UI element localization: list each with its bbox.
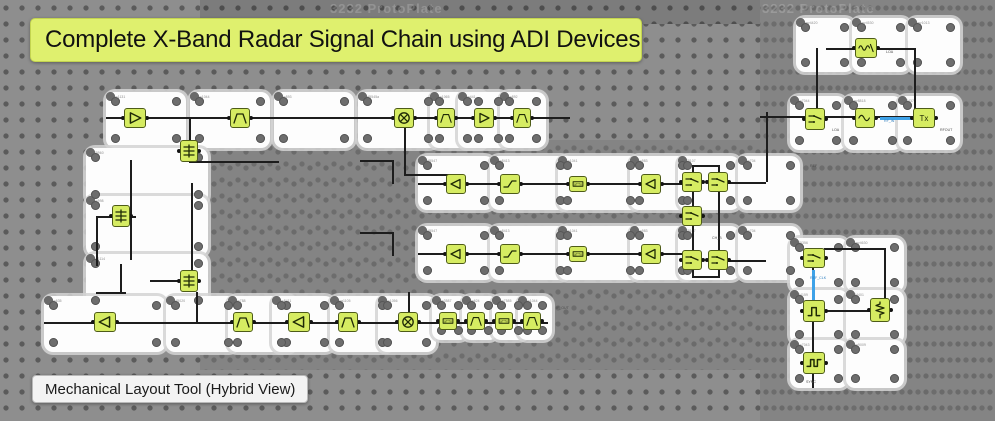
mounting-screw-icon [505,97,514,106]
watermark-top-left: 3232 ProtoPlate [330,1,443,16]
net-label: RFOUT [940,128,952,132]
switch-icon [711,253,725,267]
net-label: IF_OUT [556,306,569,310]
mounting-screw-icon [495,161,504,170]
mounting-screw-icon [635,196,644,205]
signal-trace [914,48,916,110]
mounting-screw-icon [834,345,843,354]
signal-trace [728,260,766,262]
signal-trace [766,112,768,182]
mounting-screw-icon [224,338,233,347]
signal-trace [196,292,198,324]
mounting-screw-icon [851,345,860,354]
clock-gen-icon [806,355,822,371]
net-label: RF_IN [884,119,894,123]
mounting-screw-icon [834,278,843,287]
mounting-screw-icon [626,231,635,240]
mounting-screw-icon [463,97,472,106]
mounting-screw-icon [840,58,849,67]
bp-filter-component[interactable] [233,312,253,332]
mounting-screw-icon [279,134,288,143]
amplifier-component[interactable] [288,312,310,332]
mounting-screw-icon [563,266,572,275]
mounting-screw-icon [683,196,692,205]
mounting-screw-icon [480,196,489,205]
mounting-screw-icon [890,345,899,354]
switch-component[interactable] [682,250,702,270]
mounting-screw-icon [435,134,444,143]
mounting-screw-icon [480,231,489,240]
amp-right-icon [477,111,491,125]
mounting-screw-icon [888,136,897,145]
atten-icon: aTTn [498,315,510,327]
mounting-screw-icon [890,330,899,339]
mounting-screw-icon [801,58,810,67]
svg-text:aTTn: aTTn [574,183,582,187]
signal-trace [116,322,236,324]
mounting-screw-icon [532,134,541,143]
mounting-screw-icon [195,97,204,106]
mounting-screw-icon [834,330,843,339]
mounting-screw-icon [494,97,503,106]
switch-component[interactable] [682,172,702,192]
phase-shift-component[interactable] [500,174,520,194]
mounting-screw-icon [786,161,795,170]
mounting-screw-icon [903,101,912,110]
mounting-screw-icon [256,97,265,106]
signal-trace [404,174,450,176]
mixer-icon [397,111,411,125]
net-label: LOA [832,128,839,132]
mounting-screw-icon [335,301,344,310]
mounting-screw-icon [801,23,810,32]
mounting-screw-icon [171,338,180,347]
attenuator-component[interactable]: aTTn [569,176,587,192]
bp-filter-component[interactable] [523,312,541,330]
mixer-component[interactable] [398,312,418,332]
mounting-screw-icon [424,97,433,106]
mounting-screw-icon [484,326,493,335]
filter-bp-icon [341,315,355,329]
mounting-screw-icon [423,161,432,170]
amp-left-icon [449,177,463,191]
mounting-screw-icon [320,338,329,347]
mounting-screw-icon [363,97,372,106]
bp-filter-component[interactable] [513,108,531,128]
mounting-screw-icon [194,201,203,210]
mounting-screw-icon [494,134,503,143]
amplifier-component[interactable] [641,174,661,194]
mounting-screw-icon [743,161,752,170]
signal-trace [392,232,394,256]
switch-component[interactable] [708,172,728,192]
status-badge-label: Mechanical Layout Tool (Hybrid View) [45,381,295,398]
attenuator-component[interactable]: aTTn [439,312,457,330]
filter-bp-icon [516,111,528,125]
mounting-screw-icon [888,101,897,110]
mounting-screw-icon [743,266,752,275]
mounting-screw-icon [194,259,203,268]
pll-component[interactable] [803,300,825,322]
amp-left-icon [291,315,307,329]
mounting-screw-icon [523,301,532,310]
mounting-screw-icon [467,301,476,310]
clock-component[interactable] [803,352,825,374]
mounting-screw-icon [726,231,735,240]
mounting-screw-icon [896,58,905,67]
mounting-screw-icon [437,301,446,310]
mounting-screw-icon [111,134,120,143]
filter-bp-icon [470,315,482,327]
mounting-screw-icon [840,23,849,32]
mounting-screw-icon [626,196,635,205]
mounting-screw-icon [194,190,203,199]
phase-icon [503,177,517,191]
mounting-screw-icon [152,301,161,310]
mounting-screw-icon [194,242,203,251]
mounting-screw-icon [538,301,547,310]
switch-component[interactable] [682,206,702,226]
mounting-screw-icon [946,101,955,110]
mounting-screw-icon [832,101,841,110]
mounting-screw-icon [474,97,483,106]
pll-icon [806,303,822,319]
mixer-component[interactable] [394,108,414,128]
mounting-screw-icon [363,134,372,143]
phase-shift-component[interactable] [500,244,520,264]
mounting-screw-icon [532,97,541,106]
mounting-screw-icon [463,134,472,143]
mounting-screw-icon [743,196,752,205]
signal-trace [191,183,193,273]
signal-trace [824,248,884,250]
signal-trace [356,322,400,324]
mounting-screw-icon [484,301,493,310]
mounting-screw-icon [514,301,523,310]
mounting-screw-icon [505,134,514,143]
mounting-screw-icon [422,338,431,347]
sine-icon [858,111,872,125]
svg-text:aTTn: aTTn [500,320,508,324]
filter-bp-icon [526,315,538,327]
mounting-screw-icon [726,196,735,205]
mounting-screw-icon [514,326,523,335]
mounting-screw-icon [786,266,795,275]
bp-filter-component[interactable] [467,312,485,330]
atten-icon: aTTn [442,315,454,327]
signal-trace [816,48,818,108]
title-banner: Complete X-Band Radar Signal Chain using… [30,18,642,62]
mounting-screw-icon [896,23,905,32]
amp-left-icon [644,247,658,261]
mounting-screw-icon [422,301,431,310]
signal-trace [692,165,718,167]
amp-left-icon [97,315,113,329]
coupler-icon [115,208,127,224]
mounting-screw-icon [91,201,100,210]
svg-text:aTTn: aTTn [444,320,452,324]
mounting-screw-icon [890,243,899,252]
mounting-screw-icon [454,301,463,310]
signal-trace [360,160,394,162]
mounting-screw-icon [683,231,692,240]
vco-component[interactable] [855,38,877,58]
mounting-screw-icon [786,231,795,240]
mounting-screw-icon [91,190,100,199]
signal-trace [760,116,806,118]
filter-bp-icon [440,111,452,125]
amp-left-icon [449,247,463,261]
coupler-component[interactable] [180,270,198,292]
signal-trace [876,48,914,50]
watermark-top-right: 3232 ProtoPlate [762,1,875,16]
transceiver-component[interactable]: Tx [913,108,935,128]
mounting-screw-icon [423,196,432,205]
mounting-screw-icon [903,136,912,145]
coupler-component[interactable] [180,140,198,162]
mounting-screw-icon [849,136,858,145]
mixer-icon [401,315,415,329]
mounting-screw-icon [495,231,504,240]
signal-trace [96,292,126,294]
mounting-screw-icon [335,338,344,347]
atten-icon: aTTn [572,179,584,189]
mounting-screw-icon [834,374,843,383]
switch-icon [685,175,699,189]
layout-canvas[interactable]: 3232 ProtoPlate 3232 ProtoPlate hmc1131h… [0,0,995,421]
filter-bp-icon [233,111,247,125]
mounting-screw-icon [49,301,58,310]
mounting-screw-icon [171,301,180,310]
mounting-screw-icon [851,374,860,383]
mounting-screw-icon [495,196,504,205]
differential-trace [812,270,815,302]
mounting-screw-icon [635,266,644,275]
net-label: REF [810,164,817,168]
mounting-screw-icon [383,338,392,347]
signal-trace [360,232,394,234]
bp-filter-component[interactable] [437,108,455,128]
mounting-screw-icon [857,23,866,32]
mounting-screw-icon [795,136,804,145]
attenuator-component[interactable]: aTTn [569,246,587,262]
net-label: SYNC [806,380,816,384]
amplifier-component[interactable] [446,174,466,194]
mounting-screw-icon [795,101,804,110]
mounting-screw-icon [277,338,286,347]
mounting-screw-icon [277,301,286,310]
attenuator-component[interactable]: aTTn [495,312,513,330]
vco-icon [858,41,874,55]
amp-right-icon [127,111,143,125]
mounting-screw-icon [683,161,692,170]
mounting-screw-icon [480,161,489,170]
mounting-screw-icon [635,161,644,170]
mounting-screw-icon [49,338,58,347]
resistor-component[interactable] [870,298,890,322]
mounting-screw-icon [890,295,899,304]
switch-component[interactable] [803,248,825,268]
switch-component[interactable] [805,108,825,130]
coupler-component[interactable] [112,205,130,227]
amp-left-icon [644,177,658,191]
signal-trace [96,216,98,266]
mounting-screw-icon [635,231,644,240]
amplifier-component[interactable] [641,244,661,264]
svg-text:Tx: Tx [920,114,929,123]
mounting-screw-icon [857,58,866,67]
mounting-screw-icon [851,278,860,287]
mounting-screw-icon [224,301,233,310]
mounting-screw-icon [563,231,572,240]
mounting-screw-icon [832,136,841,145]
signal-trace [44,322,96,324]
mounting-screw-icon [726,161,735,170]
mounting-screw-icon [563,161,572,170]
mounting-screw-icon [834,295,843,304]
signal-trace [189,161,279,163]
signal-trace [718,190,720,252]
amplifier-component[interactable] [124,108,146,128]
mounting-screw-icon [435,97,444,106]
mounting-screw-icon [795,374,804,383]
mounting-screw-icon [946,136,955,145]
mounting-screw-icon [111,97,120,106]
mounting-screw-icon [795,278,804,287]
mounting-screw-icon [743,231,752,240]
switch-icon [808,111,822,127]
status-badge: Mechanical Layout Tool (Hybrid View) [32,375,308,403]
mounting-screw-icon [152,338,161,347]
phase-icon [503,247,517,261]
mounting-screw-icon [480,266,489,275]
switch-icon [685,209,699,223]
amplifier-component[interactable] [446,244,466,264]
oscillator-component[interactable] [855,108,875,128]
net-label: CH_B [712,236,722,240]
resistor-icon [873,301,887,319]
amplifier-component[interactable] [94,312,116,332]
signal-trace [392,160,394,184]
bp-filter-component[interactable] [230,108,250,128]
switch-component[interactable] [708,250,728,270]
net-label: LOA [886,50,893,54]
mounting-screw-icon [474,134,483,143]
signal-trace [130,160,132,260]
mounting-screw-icon [233,338,242,347]
mounting-screw-icon [851,330,860,339]
mounting-screw-icon [91,296,100,305]
switch-icon [806,251,822,265]
switch-icon [685,253,699,267]
mounting-screw-icon [946,23,955,32]
mounting-screw-icon [946,58,955,67]
mounting-screw-icon [233,301,242,310]
mounting-screw-icon [495,266,504,275]
coupler-icon [183,143,195,159]
coupler-icon [183,273,195,289]
signal-trace [884,248,886,298]
mounting-screw-icon [423,266,432,275]
mounting-screw-icon [256,134,265,143]
signal-trace [120,264,122,292]
mounting-screw-icon [340,134,349,143]
atten-icon: aTTn [572,249,584,259]
mounting-screw-icon [626,266,635,275]
mounting-screw-icon [626,161,635,170]
mounting-screw-icon [423,231,432,240]
bp-filter-component[interactable] [338,312,358,332]
mounting-screw-icon [795,330,804,339]
page-title: Complete X-Band Radar Signal Chain using… [45,26,640,54]
mounting-screw-icon [890,374,899,383]
filter-bp-icon [236,315,250,329]
signal-trace [812,322,814,354]
mounting-screw-icon [172,97,181,106]
svg-text:aTTn: aTTn [574,253,582,257]
signal-trace [728,182,766,184]
switch-icon [711,175,725,189]
signal-trace [692,276,720,278]
mounting-screw-icon [786,196,795,205]
mounting-screw-icon [91,153,100,162]
module-tile[interactable]: hmc998 [86,196,208,256]
mounting-screw-icon [890,278,899,287]
mounting-screw-icon [340,97,349,106]
mounting-screw-icon [563,196,572,205]
mounting-screw-icon [383,301,392,310]
mounting-screw-icon [497,301,506,310]
amplifier-component[interactable] [474,108,494,128]
mounting-screw-icon [279,97,288,106]
mounting-screw-icon [851,295,860,304]
net-label: REF_CLK [810,276,826,280]
tx-icon: Tx [916,111,932,125]
mounting-screw-icon [913,23,922,32]
mounting-screw-icon [424,134,433,143]
mounting-screw-icon [320,301,329,310]
